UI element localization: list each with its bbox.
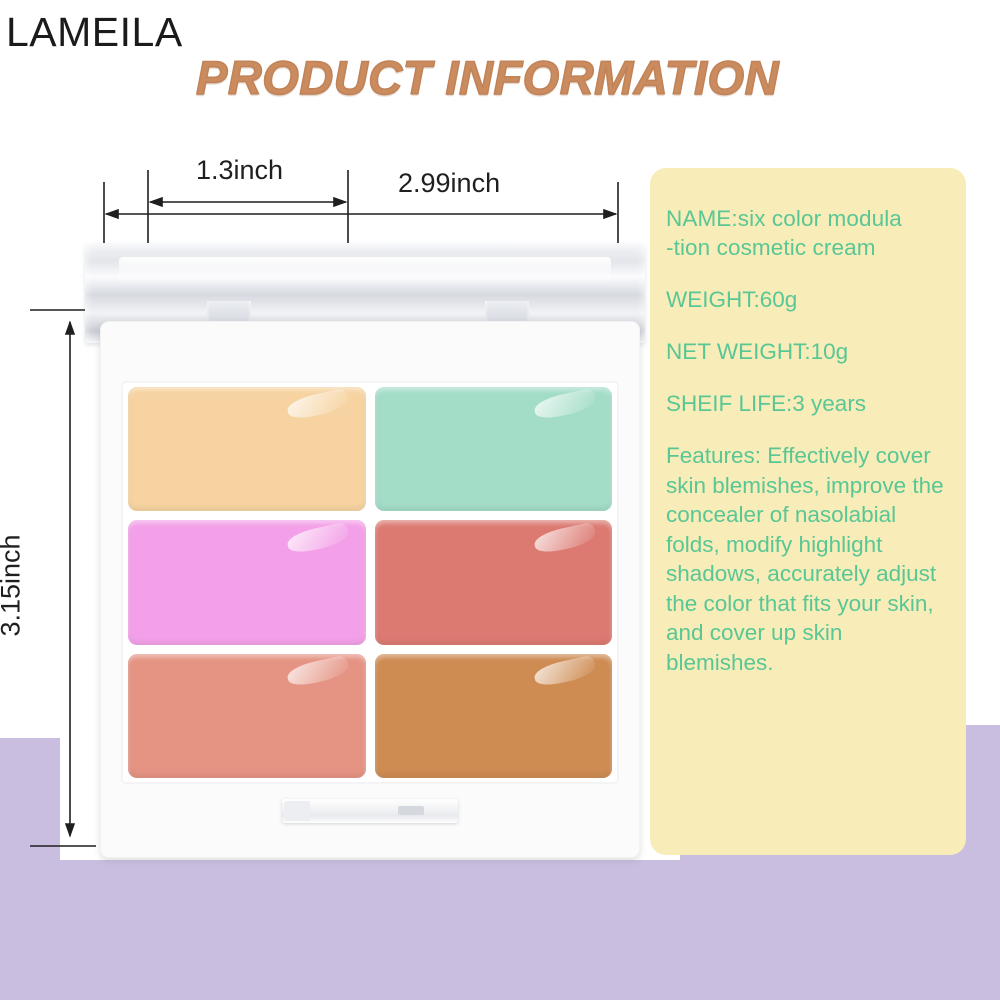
pan-grid bbox=[128, 387, 612, 778]
applicator-brush bbox=[282, 799, 458, 823]
pan-bright-pink bbox=[128, 520, 366, 644]
pan-mint-green bbox=[375, 387, 613, 511]
product-palette bbox=[85, 243, 645, 858]
info-card: NAME:six color modula -tion cosmetic cre… bbox=[650, 168, 966, 855]
dimension-label-width-total: 2.99inch bbox=[398, 168, 500, 199]
pan-bronze-tan bbox=[375, 654, 613, 778]
info-shelf-life: SHEIF LIFE:3 years bbox=[666, 389, 948, 418]
dimension-label-width-inner: 1.3inch bbox=[196, 155, 283, 186]
info-weight: WEIGHT:60g bbox=[666, 285, 948, 314]
pan-coral-red bbox=[375, 520, 613, 644]
dimension-label-height-total: 3.15inch bbox=[0, 534, 27, 636]
brand-name: LAMEILA bbox=[6, 9, 183, 56]
info-name-line2: -tion cosmetic cream bbox=[666, 235, 876, 260]
info-name: NAME:six color modula -tion cosmetic cre… bbox=[666, 204, 948, 262]
pan-salmon bbox=[128, 654, 366, 778]
info-net-weight: NET WEIGHT:10g bbox=[666, 337, 948, 366]
product-information-graphic: LAMEILA PRODUCT INFORMATION bbox=[0, 0, 1000, 1000]
pan-peach-cream bbox=[128, 387, 366, 511]
info-name-line1: NAME:six color modula bbox=[666, 206, 902, 231]
info-features: Features: Effectively cover skin blemish… bbox=[666, 441, 948, 677]
page-title: PRODUCT INFORMATION bbox=[196, 50, 779, 105]
palette-base bbox=[100, 321, 640, 858]
